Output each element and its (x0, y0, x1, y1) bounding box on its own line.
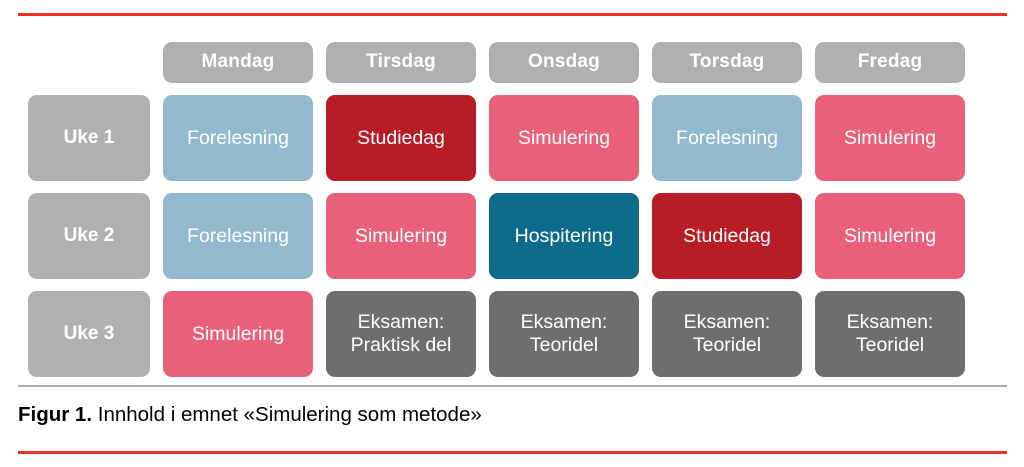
row-header-uke-1: Uke 1 (28, 95, 150, 181)
row-header-uke-2: Uke 2 (28, 193, 150, 279)
table-row-uke-2: Uke 2 Forelesning Simulering Hospitering… (28, 193, 966, 279)
column-header-tirsdag: Tirsdag (326, 42, 476, 83)
cell-uke3-tirsdag: Eksamen:Praktisk del (326, 291, 476, 377)
column-header-onsdag: Onsdag (489, 42, 639, 83)
caption-divider-rule (18, 385, 1007, 387)
table-row-uke-3: Uke 3 Simulering Eksamen:Praktisk del Ek… (28, 291, 966, 377)
cell-uke1-torsdag: Forelesning (652, 95, 802, 181)
cell-uke1-mandag: Forelesning (163, 95, 313, 181)
cell-uke3-onsdag: Eksamen:Teoridel (489, 291, 639, 377)
cell-uke2-fredag: Simulering (815, 193, 965, 279)
cell-uke2-mandag: Forelesning (163, 193, 313, 279)
cell-uke2-tirsdag: Simulering (326, 193, 476, 279)
column-header-torsdag: Torsdag (652, 42, 802, 83)
table-row-uke-1: Uke 1 Forelesning Studiedag Simulering F… (28, 95, 966, 181)
figure-panel: Mandag Tirsdag Onsdag Torsdag Fredag Uke… (0, 0, 1024, 467)
figure-caption-text: Innhold i emnet «Simulering som metode» (92, 403, 482, 426)
figure-caption-label: Figur 1. (18, 403, 92, 426)
column-header-mandag: Mandag (163, 42, 313, 83)
schedule-grid: Mandag Tirsdag Onsdag Torsdag Fredag Uke… (28, 42, 966, 377)
header-corner-spacer (28, 42, 150, 83)
cell-uke2-onsdag: Hospitering (489, 193, 639, 279)
cell-uke3-mandag: Simulering (163, 291, 313, 377)
cell-uke2-torsdag: Studiedag (652, 193, 802, 279)
cell-uke3-fredag: Eksamen:Teoridel (815, 291, 965, 377)
header-row: Mandag Tirsdag Onsdag Torsdag Fredag (28, 42, 966, 83)
row-header-uke-3: Uke 3 (28, 291, 150, 377)
cell-uke1-fredag: Simulering (815, 95, 965, 181)
figure-caption: Figur 1. Innhold i emnet «Simulering som… (18, 403, 482, 427)
cell-uke3-torsdag: Eksamen:Teoridel (652, 291, 802, 377)
cell-uke1-onsdag: Simulering (489, 95, 639, 181)
cell-uke1-tirsdag: Studiedag (326, 95, 476, 181)
bottom-rule (18, 451, 1007, 454)
column-header-fredag: Fredag (815, 42, 965, 83)
top-rule (18, 13, 1007, 16)
